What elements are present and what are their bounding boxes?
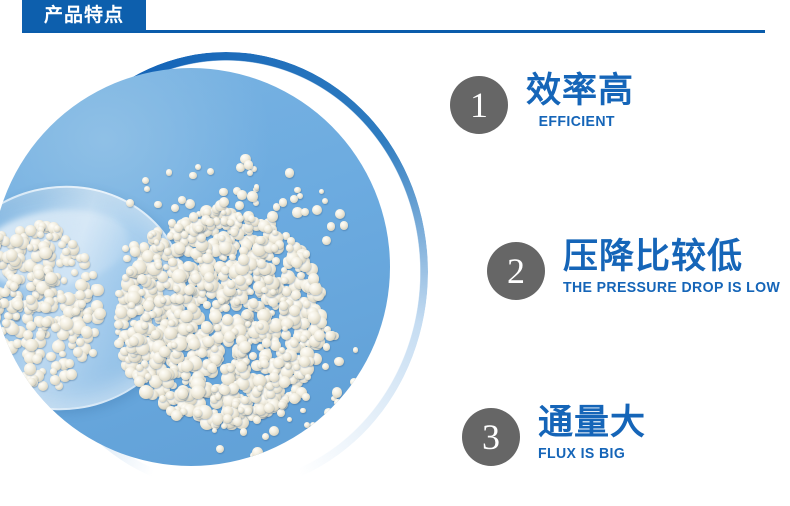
ceramic-ball — [71, 269, 78, 276]
ceramic-ball — [154, 201, 162, 209]
product-photo-stage — [0, 40, 440, 500]
ceramic-ball — [199, 290, 206, 297]
ceramic-ball — [285, 168, 295, 178]
ceramic-ball — [115, 290, 122, 297]
ceramic-ball — [181, 372, 190, 381]
ceramic-ball — [0, 298, 9, 308]
ceramic-ball — [323, 343, 330, 350]
ceramic-ball — [160, 297, 166, 303]
ceramic-ball — [287, 417, 292, 422]
ceramic-ball — [309, 283, 321, 295]
ceramic-ball — [258, 323, 264, 329]
ceramic-ball — [83, 313, 92, 322]
ceramic-ball — [219, 197, 230, 208]
ceramic-ball — [68, 240, 76, 248]
ceramic-ball — [127, 269, 133, 275]
ceramic-ball — [171, 204, 179, 212]
ceramic-ball — [279, 376, 290, 387]
feature-subtitle-1: EFFICIENT — [526, 113, 628, 130]
ceramic-ball — [72, 307, 80, 315]
ceramic-ball — [305, 431, 315, 441]
ceramic-ball — [75, 290, 85, 300]
ceramic-ball — [202, 253, 212, 263]
ceramic-ball — [40, 302, 51, 313]
ceramic-ball — [142, 250, 154, 262]
ceramic-ball — [279, 301, 288, 310]
ceramic-ball — [285, 363, 291, 369]
ceramic-ball — [10, 282, 19, 291]
ceramic-ball — [239, 341, 251, 353]
ceramic-ball — [89, 271, 96, 278]
ceramic-ball — [37, 231, 44, 238]
ceramic-ball — [264, 225, 272, 233]
ceramic-ball — [289, 305, 300, 316]
ceramic-ball — [154, 239, 160, 245]
ceramic-ball — [234, 298, 241, 305]
ceramic-ball — [284, 460, 293, 466]
ceramic-ball — [24, 363, 36, 375]
feature-item-3: 3 通量大 FLUX IS BIG — [462, 408, 646, 466]
ceramic-ball — [247, 170, 253, 176]
ceramic-ball — [241, 396, 249, 404]
ceramic-ball — [6, 249, 17, 260]
ceramic-ball — [297, 272, 304, 279]
ceramic-ball — [184, 285, 194, 295]
ceramic-ball — [129, 336, 139, 346]
ceramic-ball — [78, 300, 86, 308]
ceramic-ball — [262, 433, 269, 440]
ceramic-ball — [267, 211, 277, 221]
ceramic-ball — [174, 223, 183, 232]
ceramic-ball — [219, 241, 231, 253]
ceramic-ball — [229, 254, 236, 261]
ceramic-ball — [222, 314, 233, 325]
ceramic-ball — [181, 360, 193, 372]
ceramic-ball — [164, 327, 176, 339]
ceramic-ball — [238, 254, 249, 265]
ceramic-ball — [219, 188, 228, 197]
ceramic-ball — [286, 244, 294, 252]
ceramic-ball — [76, 338, 84, 346]
ceramic-ball — [164, 248, 170, 254]
ceramic-ball — [334, 399, 341, 406]
product-features-page: 产品特点 1 效率高 EFFICIENT 2 压降比较低 THE PRESSUR — [0, 0, 790, 506]
ceramic-ball — [330, 437, 337, 444]
ceramic-ball — [173, 285, 180, 292]
feature-number-badge-1: 1 — [450, 76, 508, 134]
ceramic-ball — [282, 287, 291, 296]
ceramic-ball — [175, 294, 184, 303]
feature-subtitle-2: THE PRESSURE DROP IS LOW — [563, 279, 780, 296]
ceramic-ball — [365, 370, 375, 380]
ceramic-ball — [301, 208, 309, 216]
ceramic-ball — [227, 365, 234, 372]
ceramic-ball — [60, 317, 73, 330]
ceramic-ball — [15, 380, 23, 388]
ceramic-ball — [174, 242, 185, 253]
ceramic-ball — [73, 347, 82, 356]
ceramic-ball — [173, 233, 181, 241]
ceramic-ball — [183, 261, 193, 271]
ceramic-ball — [249, 298, 258, 307]
ceramic-ball — [114, 320, 123, 329]
ceramic-ball — [207, 168, 214, 175]
ceramic-ball — [299, 356, 310, 367]
feature-item-1: 1 效率高 EFFICIENT — [450, 76, 634, 134]
ceramic-ball — [253, 416, 261, 424]
ceramic-ball — [264, 403, 274, 413]
ceramic-ball — [215, 393, 221, 399]
ceramic-ball — [343, 396, 350, 403]
ceramic-ball — [237, 190, 247, 200]
ceramic-ball — [256, 236, 264, 244]
ceramic-ball — [212, 428, 217, 433]
ceramic-ball — [302, 393, 310, 401]
ceramic-ball — [168, 320, 175, 327]
ceramic-ball — [308, 311, 320, 323]
ceramic-ball — [264, 275, 273, 284]
ceramic-ball — [322, 198, 329, 205]
ceramic-ball — [222, 304, 230, 312]
ceramic-ball — [10, 234, 23, 247]
ceramic-ball — [353, 347, 359, 353]
feature-text-3: 通量大 FLUX IS BIG — [538, 404, 646, 462]
ceramic-ball — [293, 364, 300, 371]
ceramic-ball — [137, 274, 147, 284]
ceramic-ball — [262, 338, 271, 347]
feature-subtitle-3: FLUX IS BIG — [538, 445, 640, 462]
ceramic-ball — [130, 246, 140, 256]
ceramic-ball — [3, 359, 10, 366]
section-title-tab: 产品特点 — [22, 0, 146, 31]
ceramic-ball — [27, 378, 35, 386]
ceramic-ball — [314, 330, 325, 341]
ceramic-ball — [94, 308, 106, 320]
ceramic-ball — [310, 422, 316, 428]
ceramic-ball — [186, 325, 193, 332]
ceramic-ball — [209, 310, 222, 323]
ceramic-ball — [221, 210, 226, 215]
feature-number-2: 2 — [507, 253, 525, 289]
ceramic-ball — [257, 259, 266, 268]
ceramic-ball — [143, 300, 154, 311]
feature-item-2: 2 压降比较低 THE PRESSURE DROP IS LOW — [487, 242, 790, 300]
ceramic-ball — [163, 281, 169, 287]
ceramic-ball — [245, 462, 255, 466]
ceramic-ball — [57, 294, 66, 303]
ceramic-ball — [127, 308, 137, 318]
ceramic-ball — [50, 368, 56, 374]
ceramic-ball — [297, 443, 306, 452]
ceramic-ball — [36, 330, 46, 340]
feature-number-badge-2: 2 — [487, 242, 545, 300]
ceramic-ball — [230, 228, 238, 236]
ceramic-ball — [240, 428, 247, 435]
ceramic-ball — [139, 385, 153, 399]
ceramic-ball — [278, 401, 286, 409]
ceramic-ball — [332, 387, 342, 397]
ceramic-ball — [216, 445, 224, 453]
ceramic-ball — [38, 381, 48, 391]
ceramic-ball — [180, 310, 193, 323]
ceramic-ball — [324, 463, 332, 466]
ceramic-ball — [322, 236, 331, 245]
ceramic-ball — [312, 205, 322, 215]
feature-text-2: 压降比较低 THE PRESSURE DROP IS LOW — [563, 238, 790, 296]
ceramic-ball — [188, 338, 200, 350]
ceramic-ball — [247, 191, 258, 202]
ceramic-ball — [136, 364, 143, 371]
feature-number-badge-3: 3 — [462, 408, 520, 466]
ceramic-ball — [340, 221, 348, 229]
ceramic-ball — [281, 277, 288, 284]
ceramic-ball — [171, 410, 182, 421]
ceramic-ball — [273, 358, 284, 369]
ceramic-ball — [291, 257, 302, 268]
ceramic-ball — [211, 386, 218, 393]
ceramic-ball — [322, 363, 329, 370]
ceramic-ball — [126, 199, 134, 207]
feature-title-2: 压降比较低 — [563, 238, 790, 277]
ceramic-ball — [166, 169, 173, 176]
ceramic-ball — [166, 392, 174, 400]
ceramic-ball — [323, 414, 331, 422]
ceramic-ball — [350, 378, 358, 386]
ceramic-ball — [238, 407, 244, 413]
section-title-label: 产品特点 — [44, 6, 124, 25]
ceramic-ball — [41, 317, 51, 327]
feature-title-3: 通量大 — [538, 404, 646, 443]
ceramic-ball — [172, 269, 186, 283]
ceramic-ball — [89, 349, 98, 358]
product-photo-circle — [0, 68, 390, 466]
ceramic-ball — [325, 331, 335, 341]
ceramic-ball — [319, 189, 324, 194]
ceramic-ball — [168, 258, 176, 266]
ceramic-ball — [334, 357, 343, 366]
ceramic-ball — [0, 288, 9, 297]
ceramic-ball — [25, 339, 38, 352]
feature-text-1: 效率高 EFFICIENT — [526, 72, 634, 130]
ceramic-ball — [13, 313, 20, 320]
ceramic-ball — [290, 195, 298, 203]
ceramic-ball — [159, 395, 166, 402]
ceramic-ball — [277, 409, 285, 417]
ceramic-ball — [203, 301, 211, 309]
ceramic-ball — [249, 352, 257, 360]
ceramic-ball — [266, 390, 274, 398]
ceramic-ball — [291, 290, 301, 300]
ceramic-ball — [290, 339, 298, 347]
ceramic-ball — [364, 430, 373, 439]
ceramic-ball — [45, 272, 57, 284]
feature-number-3: 3 — [482, 419, 500, 455]
ceramic-ball — [27, 244, 34, 251]
ceramic-ball — [236, 361, 247, 372]
ceramic-ball — [246, 278, 253, 285]
ceramic-ball — [244, 407, 252, 415]
ceramic-ball — [159, 346, 170, 357]
ceramic-ball — [177, 388, 188, 399]
ceramic-ball — [272, 230, 278, 236]
ceramic-ball — [257, 385, 263, 391]
ceramic-ball — [214, 324, 220, 330]
ceramic-ball — [189, 172, 197, 180]
ceramic-ball — [65, 359, 74, 368]
ceramic-ball — [46, 233, 53, 240]
ceramic-ball — [248, 289, 254, 295]
feature-title-1: 效率高 — [526, 72, 634, 111]
ceramic-ball — [191, 273, 201, 283]
ceramic-ball — [185, 199, 195, 209]
ceramic-ball — [242, 311, 250, 319]
feature-number-1: 1 — [470, 87, 488, 123]
ceramic-ball — [283, 352, 292, 361]
ceramic-ball — [142, 177, 149, 184]
ceramic-ball — [91, 284, 104, 297]
ceramic-ball — [311, 457, 322, 466]
ceramic-ball — [331, 445, 339, 453]
ceramic-ball — [279, 198, 287, 206]
ceramic-ball — [335, 209, 345, 219]
ceramic-ball — [219, 385, 230, 396]
ceramic-ball — [122, 245, 129, 252]
ceramic-ball — [269, 372, 279, 382]
ceramic-ball — [155, 262, 162, 269]
ceramic-ball — [81, 326, 93, 338]
ceramic-ball — [68, 259, 74, 265]
ceramic-ball — [178, 196, 185, 203]
ceramic-ball — [221, 266, 230, 275]
ceramic-ball — [235, 201, 244, 210]
ceramic-ball — [62, 248, 70, 256]
ceramic-ball — [374, 412, 384, 422]
ceramic-ball — [327, 222, 336, 231]
ceramic-ball — [50, 375, 59, 384]
ceramic-ball — [300, 408, 305, 413]
ceramic-ball — [195, 164, 201, 170]
ceramic-ball — [32, 354, 42, 364]
ceramic-ball — [144, 186, 150, 192]
ceramic-ball — [281, 446, 290, 455]
ceramic-ball — [269, 426, 280, 437]
ceramic-ball — [248, 215, 255, 222]
ceramic-ball — [75, 279, 87, 291]
ceramic-ball — [305, 374, 310, 379]
ceramic-ball — [39, 247, 51, 259]
ceramic-ball — [289, 393, 300, 404]
ceramic-ball — [228, 383, 239, 394]
ceramic-ball — [235, 275, 245, 285]
ceramic-ball — [303, 250, 310, 257]
ceramic-ball — [2, 319, 10, 327]
